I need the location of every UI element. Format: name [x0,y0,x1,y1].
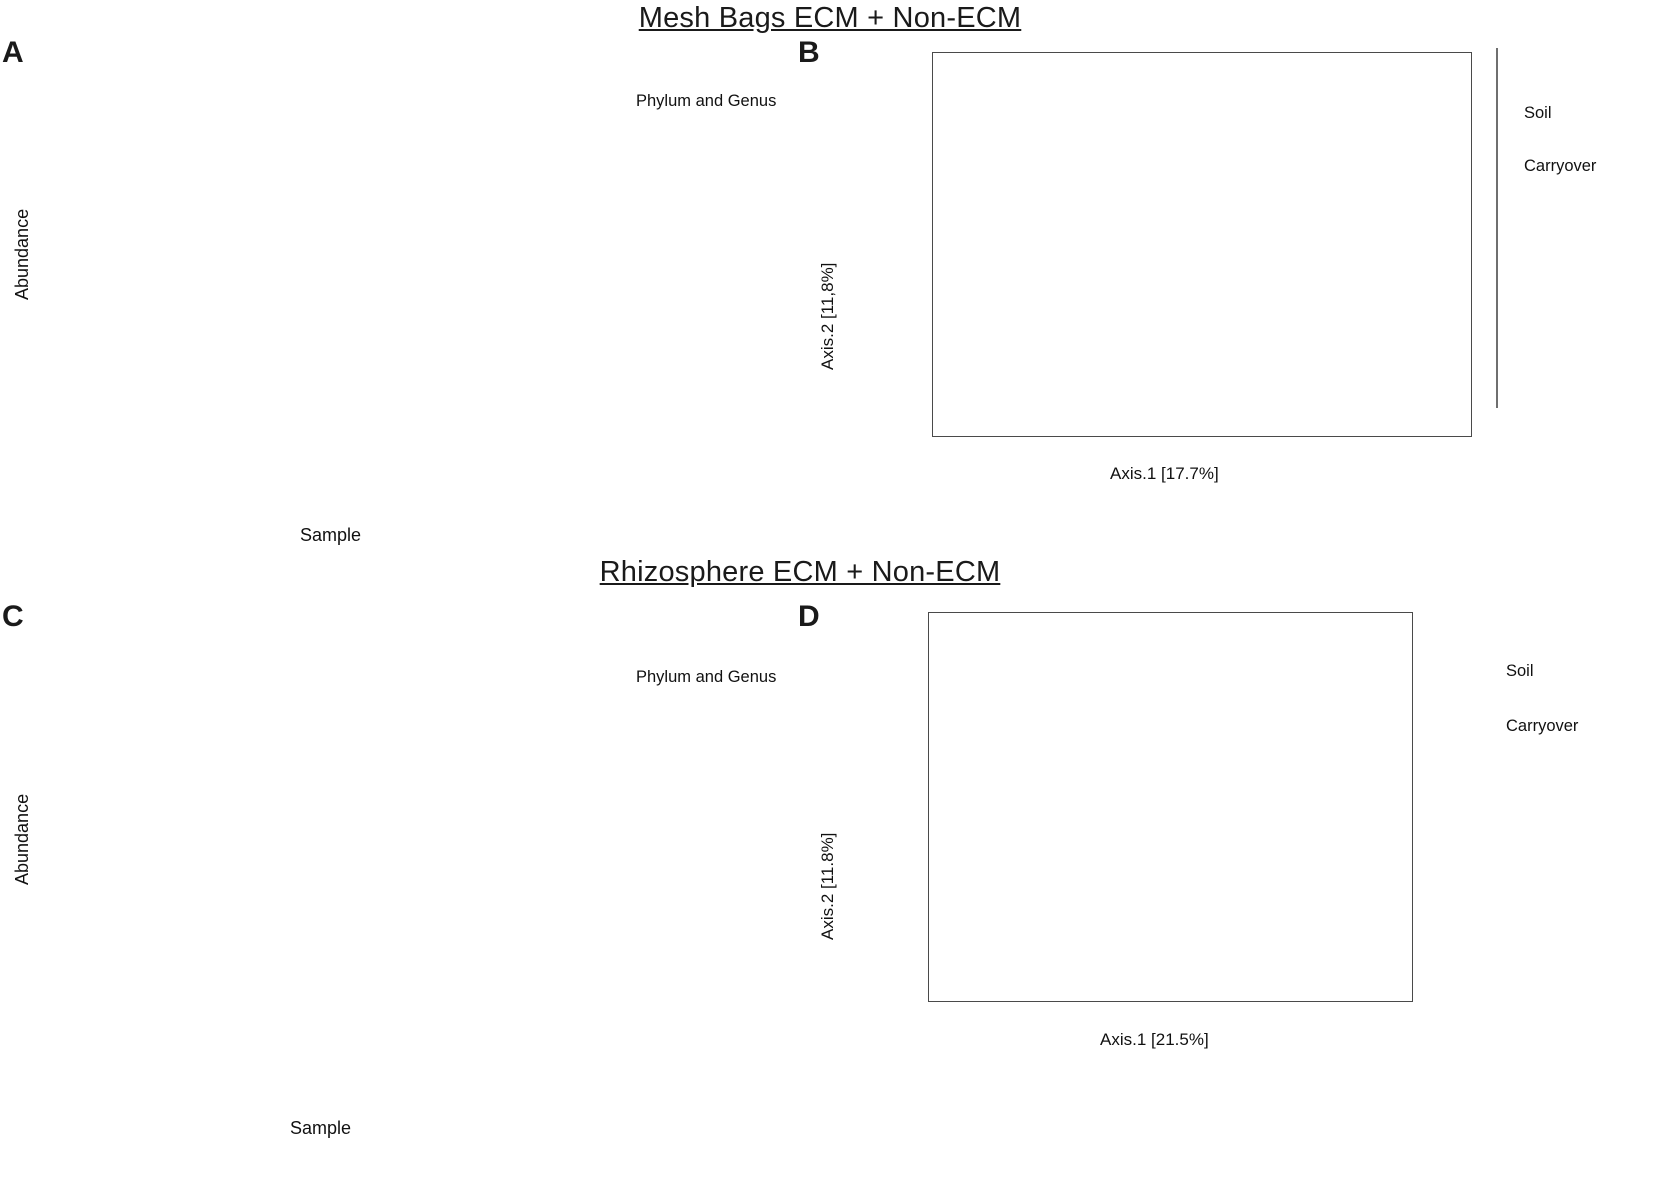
panel-a-x-axis-title: Sample [300,525,361,546]
figure-title-bottom: Rhizosphere ECM + Non-ECM [400,556,1200,589]
panel-a-y-axis-title: Abundance [12,209,33,300]
panel-c-y-axis-title: Abundance [12,794,33,885]
panel-b-soil-legend-title: Soil [1524,104,1664,123]
panel-c-x-axis-title: Sample [290,1118,351,1139]
panel-d-plot-area [928,612,1413,1002]
panel-b-plot-area [932,52,1472,437]
figure-root: Mesh Bags ECM + Non-ECM Rhizosphere ECM … [0,0,1665,1184]
panel-c-legend: Phylum and Genus [636,668,806,694]
panel-d-legend: Soil Carryover [1506,662,1656,746]
panel-b-legend-divider [1496,48,1498,408]
panel-b-x-axis-title: Axis.1 [17.7%] [1110,464,1219,484]
panel-a-legend: Phylum and Genus [636,92,796,118]
panel-b-legend: Soil Carryover [1524,104,1664,186]
panel-d-y-axis-title: Axis.2 [11.8%] [818,833,838,940]
panel-d-x-axis-title: Axis.1 [21.5%] [1100,1030,1209,1050]
panel-c-legend-title: Phylum and Genus [636,668,806,687]
figure-title-top: Mesh Bags ECM + Non-ECM [430,2,1230,35]
panel-b-y-axis-title: Axis.2 [11,8%] [818,263,838,370]
panel-a-stacked-bars: Abundance Sample [0,40,620,540]
panel-b-carryover-legend-title: Carryover [1524,157,1664,176]
panel-d-ordination: Axis.2 [11.8%] Axis.1 [21.5%] [800,600,1500,1070]
panel-a-legend-title: Phylum and Genus [636,92,796,111]
panel-c-stacked-bars: Abundance Sample [0,600,620,1160]
panel-b-ordination: Axis.2 [11,8%] Axis.1 [17.7%] [800,40,1500,510]
panel-d-soil-legend-title: Soil [1506,662,1656,681]
panel-d-carryover-legend-title: Carryover [1506,717,1656,736]
